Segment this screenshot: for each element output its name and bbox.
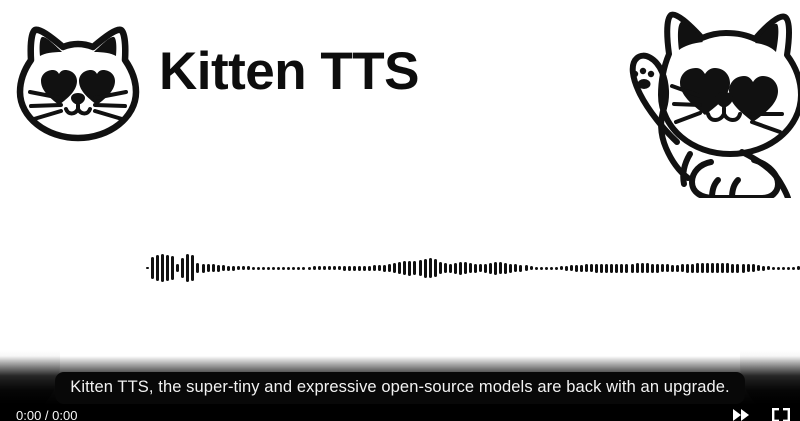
waveform-bar (196, 263, 199, 273)
waveform-bar (176, 264, 179, 272)
waveform-bar (232, 266, 235, 271)
waveform-bar (484, 264, 487, 273)
waveform-bar (716, 263, 719, 273)
waveform-bar (328, 266, 331, 270)
waveform-bar (792, 267, 795, 270)
waveform-bar (747, 264, 750, 272)
waveform-bar (530, 266, 533, 270)
waveform-bar (565, 266, 568, 271)
time-separator: / (41, 408, 52, 421)
waveform-bar (545, 267, 548, 270)
waveform-bar (494, 262, 497, 275)
waveform-bar (540, 267, 543, 270)
waveform-bar (742, 264, 745, 273)
waveform-bar (711, 263, 714, 273)
kitten-face-heart-eyes-logo (8, 16, 148, 148)
waveform-bar (535, 267, 538, 270)
waveform-bar (661, 264, 664, 272)
page-title: Kitten TTS (159, 42, 419, 102)
waveform-bar (787, 267, 790, 270)
caption-subtitle: Kitten TTS, the super-tiny and expressiv… (55, 372, 745, 404)
waveform-bar (525, 265, 528, 271)
waveform-bar (651, 264, 654, 273)
waveform-bar (509, 264, 512, 273)
next-track-icon[interactable] (730, 406, 752, 421)
waveform-bar (186, 254, 189, 282)
waveform-bar (585, 264, 588, 272)
waveform-bar (398, 262, 401, 274)
waveform-bar (202, 264, 205, 273)
waveform-bar (701, 263, 704, 273)
waveform-bar (631, 264, 634, 273)
waveform-bar (348, 266, 351, 271)
waveform-bar (318, 266, 321, 270)
waveform-bar (620, 264, 623, 273)
waveform-bar (514, 264, 517, 272)
waveform-bar (207, 264, 210, 272)
waveform-bar (419, 260, 422, 276)
waveform-bar (413, 261, 416, 275)
waveform-bar (171, 256, 174, 280)
waveform-bar (393, 263, 396, 273)
waveform-bar (292, 267, 295, 270)
waveform-bar (439, 262, 442, 274)
current-time: 0:00 (16, 408, 41, 421)
waveform-bar (600, 264, 603, 273)
waveform-bar (343, 266, 346, 271)
waveform-bar (267, 267, 270, 270)
waveform-bar (625, 264, 628, 273)
waveform-bar (257, 267, 260, 270)
waveform-bar (408, 261, 411, 276)
waveform-bar (151, 257, 154, 279)
waveform-bar (434, 259, 437, 277)
waveform-bar (212, 264, 215, 272)
waveform-bar (459, 262, 462, 275)
waveform-bar (247, 266, 250, 270)
waveform-bar (595, 264, 598, 273)
waveform-bar (570, 265, 573, 271)
waveform-bar (222, 265, 225, 271)
waveform-bar (641, 263, 644, 273)
waveform-bar (575, 265, 578, 272)
waveform-bar (550, 267, 553, 270)
waveform-bar (353, 266, 356, 271)
waveform-bar (671, 265, 674, 272)
waveform-bar (424, 259, 427, 278)
waveform-bar (338, 266, 341, 270)
waveform-bar (782, 267, 785, 270)
waveform-bar (429, 258, 432, 278)
waveform-bar (696, 263, 699, 273)
waveform-bar (161, 254, 164, 282)
waveform-bar (454, 263, 457, 274)
waveform-bar (323, 266, 326, 270)
waveform-bar (691, 264, 694, 273)
waveform-bar (242, 266, 245, 270)
waveform-bar (580, 265, 583, 272)
fullscreen-icon[interactable] (770, 406, 792, 421)
video-player-screen: Kitten TTS (0, 0, 800, 421)
waveform-bar (636, 263, 639, 273)
waveform-bar (302, 267, 305, 270)
waveform-bar (282, 267, 285, 270)
waveform-bar (469, 263, 472, 273)
waveform-bar (191, 255, 194, 281)
waveform-bar (383, 265, 386, 272)
waveform-bar (444, 263, 447, 273)
player-right-controls (730, 406, 792, 421)
waveform-bar (388, 264, 391, 272)
waveform-bar (762, 266, 765, 271)
waveform-bar (146, 267, 149, 270)
waveform-bar (666, 264, 669, 272)
waveform-bar (474, 264, 477, 273)
waveform-bar (681, 264, 684, 272)
waveform-bar (489, 263, 492, 274)
waveform-bar (499, 262, 502, 274)
waveform-bar (731, 264, 734, 273)
waveform-bar (449, 264, 452, 273)
waveform-bar (615, 264, 618, 273)
waveform-bar (217, 265, 220, 272)
waveform-bar (706, 263, 709, 273)
waveform-bar (479, 264, 482, 272)
waving-kitten-heart-eyes-logo (604, 2, 800, 198)
waveform-bar (227, 266, 230, 271)
waveform-bar (726, 263, 729, 273)
total-duration: 0:00 (52, 408, 77, 421)
waveform-bar (504, 263, 507, 274)
waveform-bar (610, 264, 613, 273)
waveform-bar (333, 266, 336, 270)
waveform-bar (363, 266, 366, 271)
waveform-bar (368, 266, 371, 271)
waveform-bar (686, 264, 689, 273)
waveform-bar (237, 266, 240, 270)
waveform-bar (313, 266, 316, 270)
waveform-bar (464, 262, 467, 274)
waveform-bar (287, 267, 290, 270)
waveform-bar (358, 266, 361, 271)
waveform-bar (308, 267, 311, 270)
waveform-bar (560, 266, 563, 270)
waveform-bar (736, 264, 739, 273)
waveform-bar (519, 265, 522, 272)
waveform-bar (166, 255, 169, 281)
waveform-bar (272, 267, 275, 270)
waveform-bar (646, 263, 649, 273)
waveform-bar (555, 267, 558, 270)
waveform-bar (252, 267, 255, 270)
waveform-bar (772, 267, 775, 270)
waveform-bar (378, 265, 381, 271)
waveform-bar (262, 267, 265, 270)
waveform-bar (605, 264, 608, 273)
waveform-bar (656, 264, 659, 273)
waveform-bar (767, 266, 770, 270)
slide-content: Kitten TTS (0, 0, 800, 372)
time-display: 0:00 / 0:00 (16, 408, 77, 421)
waveform-bar (676, 265, 679, 272)
waveform-bar (777, 267, 780, 270)
waveform-bar (590, 264, 593, 272)
waveform-bar (181, 258, 184, 278)
waveform-bar (403, 261, 406, 275)
waveform-bar (373, 265, 376, 271)
waveform-bar (721, 263, 724, 273)
waveform-bar (277, 267, 280, 270)
waveform-bar (757, 265, 760, 271)
audio-waveform[interactable] (146, 246, 672, 290)
waveform-bar (156, 255, 159, 281)
waveform-bar (752, 264, 755, 272)
waveform-bar (297, 267, 300, 270)
